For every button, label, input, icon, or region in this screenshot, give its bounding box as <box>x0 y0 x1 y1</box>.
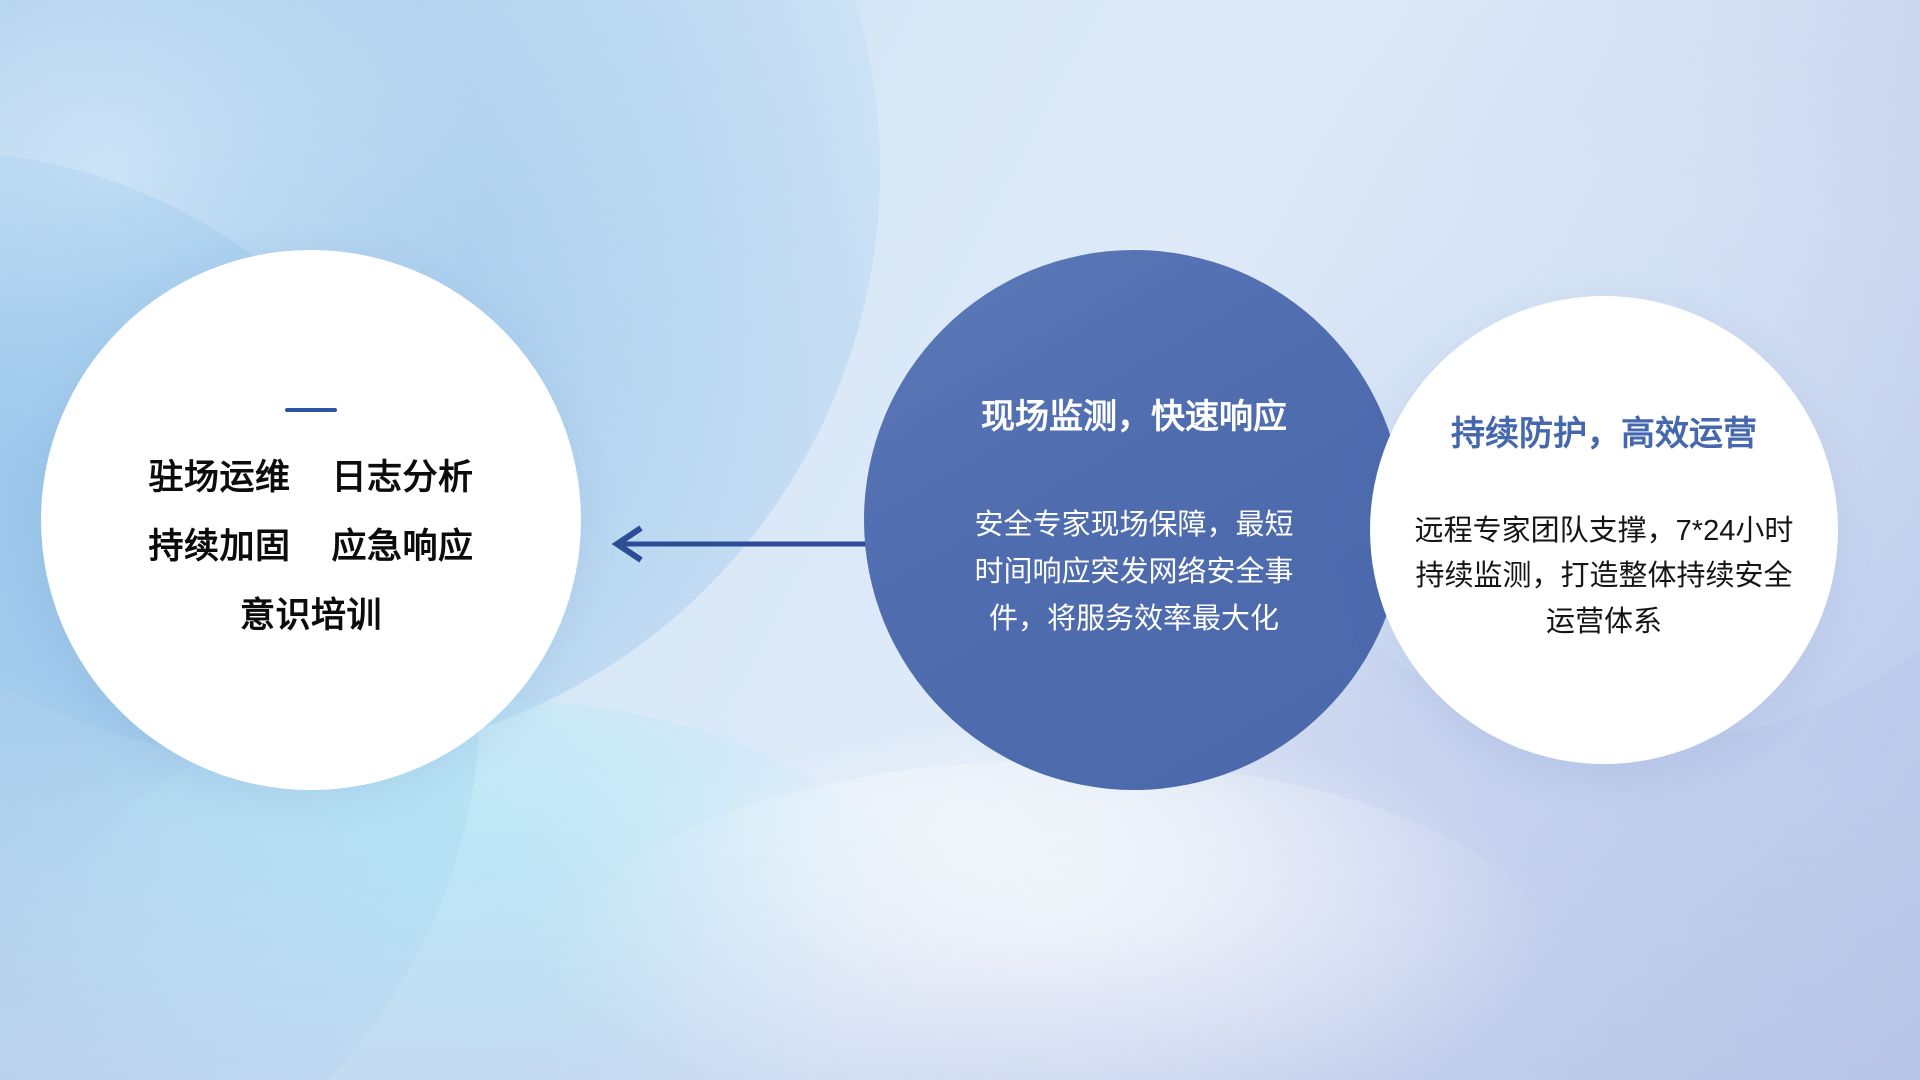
background-glow-bottom-center <box>560 760 1560 1080</box>
background-glow-bottom-left <box>40 700 940 1080</box>
capability-line: 意识培训 <box>240 598 382 633</box>
onsite-card-body: 安全专家现场保障，最短时间响应突发网络安全事件，将服务效率最大化 <box>969 502 1299 643</box>
capability-line: 驻场运维 日志分析 <box>149 460 474 495</box>
operations-card-body: 远程专家团队支撑，7*24小时持续监测，打造整体持续安全运营体系 <box>1404 509 1804 646</box>
continuous-operations-circle: 持续防护，高效运营 远程专家团队支撑，7*24小时持续监测，打造整体持续安全运营… <box>1370 296 1838 764</box>
left-arrow-icon <box>595 510 885 580</box>
background-fade-bottom <box>0 800 1920 1080</box>
onsite-monitoring-circle: 现场监测，快速响应 安全专家现场保障，最短时间响应突发网络安全事件，将服务效率最… <box>864 250 1404 790</box>
capability-line: 持续加固 应急响应 <box>149 529 474 564</box>
capabilities-circle: 驻场运维 日志分析 持续加固 应急响应 意识培训 <box>41 250 581 790</box>
horizontal-rule-icon <box>285 408 337 412</box>
operations-card-title: 持续防护，高效运营 <box>1451 414 1757 455</box>
slide-canvas: 驻场运维 日志分析 持续加固 应急响应 意识培训 现场监测，快速响应 安全专家现… <box>0 0 1920 1080</box>
onsite-card-title: 现场监测，快速响应 <box>981 397 1287 438</box>
